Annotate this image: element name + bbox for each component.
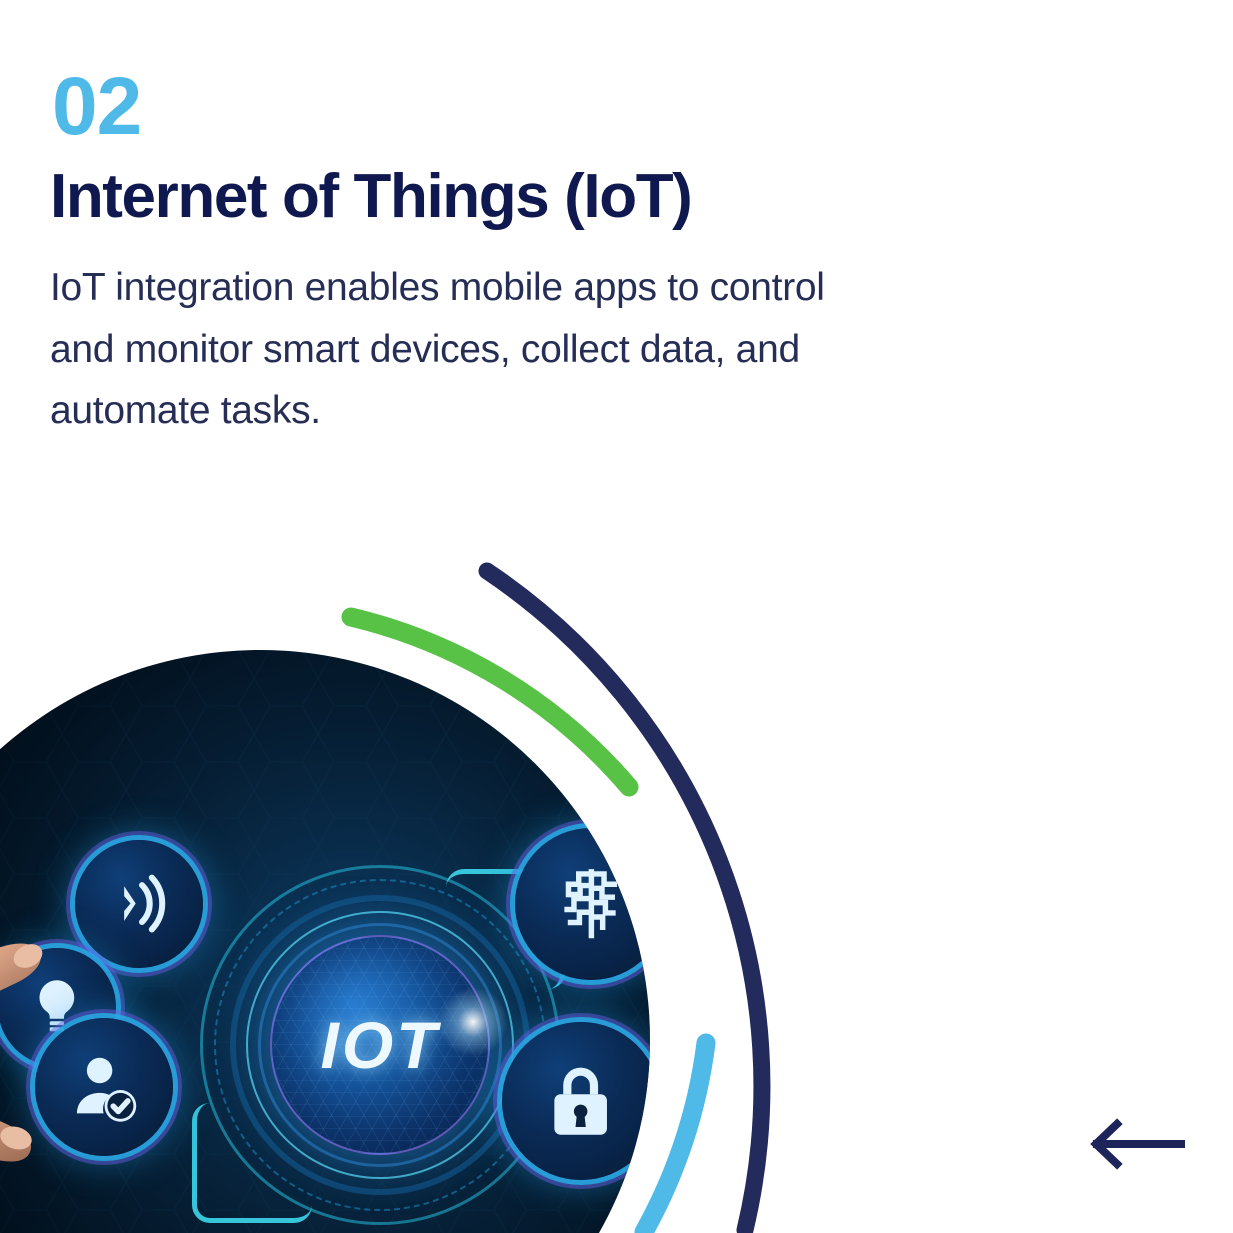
iot-hud-ring: IOT [200, 865, 560, 1225]
iot-hologram-photo: IOT [0, 650, 650, 1233]
photo-inner: IOT [0, 650, 650, 1233]
padlock-icon-disc [502, 1022, 650, 1180]
iot-center-label: IOT [200, 1007, 560, 1083]
page-title: Internet of Things (IoT) [50, 164, 1050, 229]
lower-blue-arc [644, 1043, 706, 1232]
slide-root: 02 Internet of Things (IoT) IoT integrat… [0, 0, 1233, 1233]
step-number: 02 [52, 66, 1050, 148]
body-line-1: IoT integration enables mobile apps to c… [50, 266, 825, 309]
pointing-hand [0, 910, 160, 1210]
back-arrow-button[interactable] [1085, 1118, 1185, 1170]
text-block: 02 Internet of Things (IoT) IoT integrat… [50, 66, 1050, 442]
body-line-2: and monitor smart devices, collect data,… [50, 328, 800, 371]
body-line-3: automate tasks. [50, 389, 321, 432]
brain-ai-icon [550, 863, 632, 945]
padlock-icon [538, 1058, 623, 1143]
slide-body: IoT integration enables mobile apps to c… [50, 257, 1010, 442]
hud-bracket-bottom-left [192, 1103, 312, 1223]
